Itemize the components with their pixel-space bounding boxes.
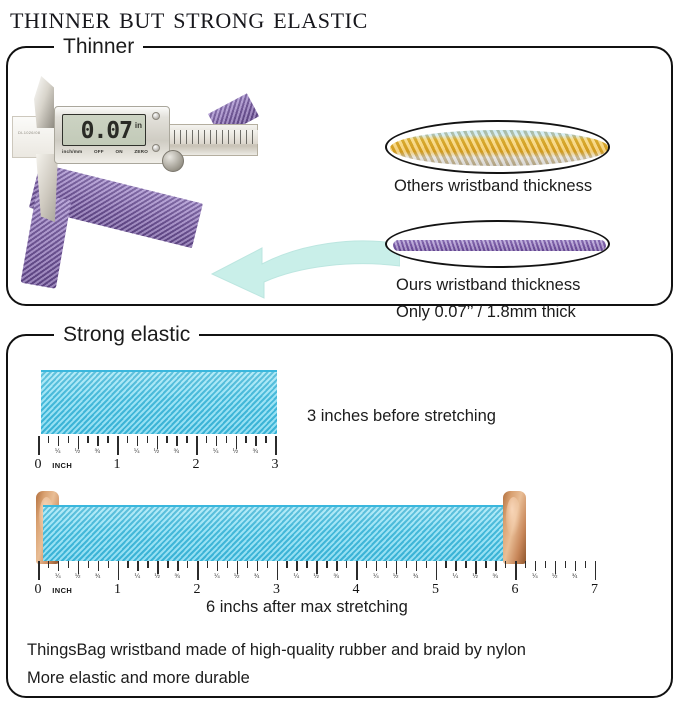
ruler-number-label: 5	[432, 582, 439, 598]
ruler-tick	[137, 436, 138, 446]
ruler-tick	[247, 561, 248, 568]
ruler-tick	[48, 436, 49, 443]
ruler-tick	[137, 561, 138, 571]
ruler-tick	[465, 561, 466, 568]
band-stretched	[43, 505, 519, 561]
ruler-tick	[565, 561, 566, 568]
ruler-tick	[38, 561, 40, 580]
ruler-fraction-label: ¼	[55, 448, 60, 456]
ruler-fraction-label: ½	[393, 573, 398, 581]
ruler-tick	[147, 436, 148, 443]
ruler-number-label: 1	[114, 457, 121, 473]
ruler-tick	[68, 436, 69, 443]
ruler-number-label: 6	[512, 582, 519, 598]
ruler-tick	[267, 561, 268, 568]
ruler-fraction-label: ½	[155, 573, 160, 581]
ruler-fraction-label: ¾	[174, 448, 179, 456]
ellipse-ours-thickness	[385, 220, 610, 268]
caliper-button-inch-mm[interactable]: inch/mm	[62, 149, 82, 155]
ruler-tick	[166, 436, 167, 443]
ruler-tick	[207, 561, 208, 568]
ruler-tick	[187, 561, 188, 568]
ruler-tick	[226, 436, 227, 443]
after-stretching-label: 6 inchs after max stretching	[206, 596, 408, 619]
ruler-tick	[346, 561, 347, 568]
ruler-tick	[58, 436, 59, 446]
ruler-tick	[217, 561, 218, 571]
ruler-fraction-label: ¾	[254, 573, 259, 581]
ruler-tick	[277, 561, 279, 580]
ruler-tick	[48, 561, 49, 568]
ruler-tick	[68, 561, 69, 568]
ruler-number-label: 0	[35, 582, 42, 598]
ruler-tick	[216, 436, 217, 446]
ruler-tick	[108, 561, 109, 568]
ruler-tick	[87, 436, 88, 443]
ruler-number-label: 7	[591, 582, 598, 598]
others-thickness-label: Others wristband thickness	[394, 175, 592, 197]
ruler-fraction-label: ¾	[333, 573, 338, 581]
ruler-tick	[286, 561, 287, 568]
ruler-tick	[485, 561, 486, 568]
ruler-tick	[97, 436, 98, 446]
ruler-tick	[127, 436, 128, 443]
ruler-fraction-label: ½	[75, 573, 80, 581]
panel-thinner-legend: Thinner	[54, 33, 143, 61]
ruler-tick	[575, 561, 576, 571]
ruler-fraction-label: ¾	[174, 573, 179, 581]
page-title: Thinner But Strong Elastic	[10, 0, 670, 36]
ruler-unit-label: INCH	[52, 586, 72, 596]
ruler-tick	[118, 561, 120, 580]
ruler-fraction-label: ¼	[134, 448, 139, 456]
ruler-fraction-label: ¼	[294, 573, 299, 581]
ruler-tick	[296, 561, 297, 571]
ruler-number-label: 3	[272, 457, 279, 473]
caliper-photo: DL1026/08 0.07 in inch/mm OFF ON ZERO	[12, 68, 260, 293]
ruler-tick	[436, 561, 438, 580]
ruler-tick	[336, 561, 337, 571]
ours-thickness-label: Ours wristband thickness	[396, 274, 580, 296]
ruler-tick	[386, 561, 387, 568]
ruler-tick	[525, 561, 526, 568]
ruler-number-label: 2	[193, 457, 200, 473]
ruler-tick	[515, 561, 517, 580]
ruler-tick	[176, 436, 177, 446]
before-stretching-label: 3 inches before stretching	[307, 405, 496, 428]
ruler-fraction-label: ¼	[213, 448, 218, 456]
ruler-fraction-label: ½	[314, 573, 319, 581]
ruler-unit-label: INCH	[52, 461, 72, 471]
description-line-1: ThingsBag wristband made of high-quality…	[27, 639, 526, 662]
ruler-tick	[98, 561, 99, 571]
ruler-fraction-label: ¼	[135, 573, 140, 581]
others-cord-swatch	[390, 130, 609, 166]
description-line-2: More elastic and more durable	[27, 667, 250, 690]
ruler-tick	[255, 436, 256, 446]
ruler-tick	[275, 436, 277, 455]
ellipse-others-thickness	[385, 120, 610, 174]
ruler-tick	[117, 436, 119, 455]
caliper-upper-jaw	[34, 76, 54, 128]
caliper-lcd-display: 0.07 in	[62, 114, 146, 146]
finger-right	[503, 491, 526, 564]
ours-thickness-spec: Only 0.07’’ / 1.8mm thick	[396, 301, 576, 323]
ruler-tick	[455, 561, 456, 571]
ruler-tick	[186, 436, 187, 443]
ruler-number-label: 2	[194, 582, 201, 598]
ruler-tick	[197, 561, 199, 580]
ruler-tick	[257, 561, 258, 571]
ruler-tick	[107, 436, 108, 443]
ruler-tick	[38, 436, 40, 455]
ruler-fraction-label: ¾	[95, 448, 100, 456]
panel-elastic-legend: Strong elastic	[54, 321, 199, 349]
ruler-fraction-label: ¼	[373, 573, 378, 581]
ruler-fraction-label: ¾	[95, 573, 100, 581]
ruler-fraction-label: ¾	[492, 573, 497, 581]
ruler-fraction-label: ¾	[572, 573, 577, 581]
caliper-button-off[interactable]: OFF	[94, 149, 104, 155]
band-unstretched	[41, 370, 277, 434]
ruler-tick	[206, 436, 207, 443]
ruler-tick	[595, 561, 597, 580]
ruler-fraction-label: ¼	[55, 573, 60, 581]
caliper-brand-mark: DL1026/08	[18, 130, 40, 135]
infographic-page: Thinner But Strong Elastic Thinner DL102…	[0, 0, 679, 705]
caliper-screw-bottom	[152, 144, 160, 152]
ruler-fraction-label: ¼	[214, 573, 219, 581]
ruler-fraction-label: ¼	[532, 573, 537, 581]
ruler-tick	[147, 561, 148, 568]
ruler-tick	[426, 561, 427, 568]
ruler-tick	[545, 561, 546, 568]
caliper-screw-top	[152, 112, 160, 120]
ruler-fraction-label: ¾	[413, 573, 418, 581]
ruler-tick	[306, 561, 307, 568]
caliper-thumb-wheel	[162, 150, 184, 172]
ruler-tick	[88, 561, 89, 568]
ruler-tick	[167, 561, 168, 568]
ruler-bottom: ¼½¾0¼½¾1¼½¾2¼½¾3¼½¾4¼½¾5¼½¾67INCH	[38, 561, 638, 601]
ruler-tick	[535, 561, 536, 571]
ruler-tick	[495, 561, 496, 571]
ruler-tick	[406, 561, 407, 568]
ruler-top: ¼½¾0¼½¾1¼½¾23INCH	[38, 436, 282, 476]
ruler-tick	[196, 436, 198, 455]
ruler-fraction-label: ½	[552, 573, 557, 581]
panel-thinner: Thinner DL1026/08 0.07 in inch/mm OFF ON	[6, 46, 673, 306]
ruler-tick	[245, 436, 246, 443]
caliper-lcd-value: 0.07	[81, 116, 132, 146]
ruler-tick	[445, 561, 446, 568]
ruler-tick	[127, 561, 128, 568]
ruler-tick	[366, 561, 367, 568]
ruler-tick	[585, 561, 586, 568]
ruler-tick	[416, 561, 417, 571]
ruler-tick	[356, 561, 358, 580]
ruler-fraction-label: ¾	[253, 448, 258, 456]
ruler-number-label: 0	[35, 457, 42, 473]
caliper-button-row: inch/mm OFF ON ZERO	[62, 147, 148, 156]
ruler-fraction-label: ½	[473, 573, 478, 581]
ruler-tick	[227, 561, 228, 568]
ruler-tick	[505, 561, 506, 568]
ruler-fraction-label: ½	[154, 448, 159, 456]
caliper-button-zero[interactable]: ZERO	[134, 149, 148, 155]
caliper-button-on[interactable]: ON	[115, 149, 122, 155]
caliper-lcd-unit: in	[135, 122, 142, 130]
ruler-tick	[58, 561, 59, 571]
ruler-fraction-label: ½	[233, 448, 238, 456]
ruler-tick	[177, 561, 178, 571]
caliper-beam-scale	[162, 130, 258, 144]
ruler-tick	[326, 561, 327, 568]
ruler-tick	[265, 436, 266, 443]
ruler-number-label: 1	[114, 582, 121, 598]
ruler-fraction-label: ½	[75, 448, 80, 456]
ours-band-swatch	[393, 240, 606, 251]
ruler-fraction-label: ½	[234, 573, 239, 581]
ruler-tick	[376, 561, 377, 571]
ruler-fraction-label: ¼	[453, 573, 458, 581]
